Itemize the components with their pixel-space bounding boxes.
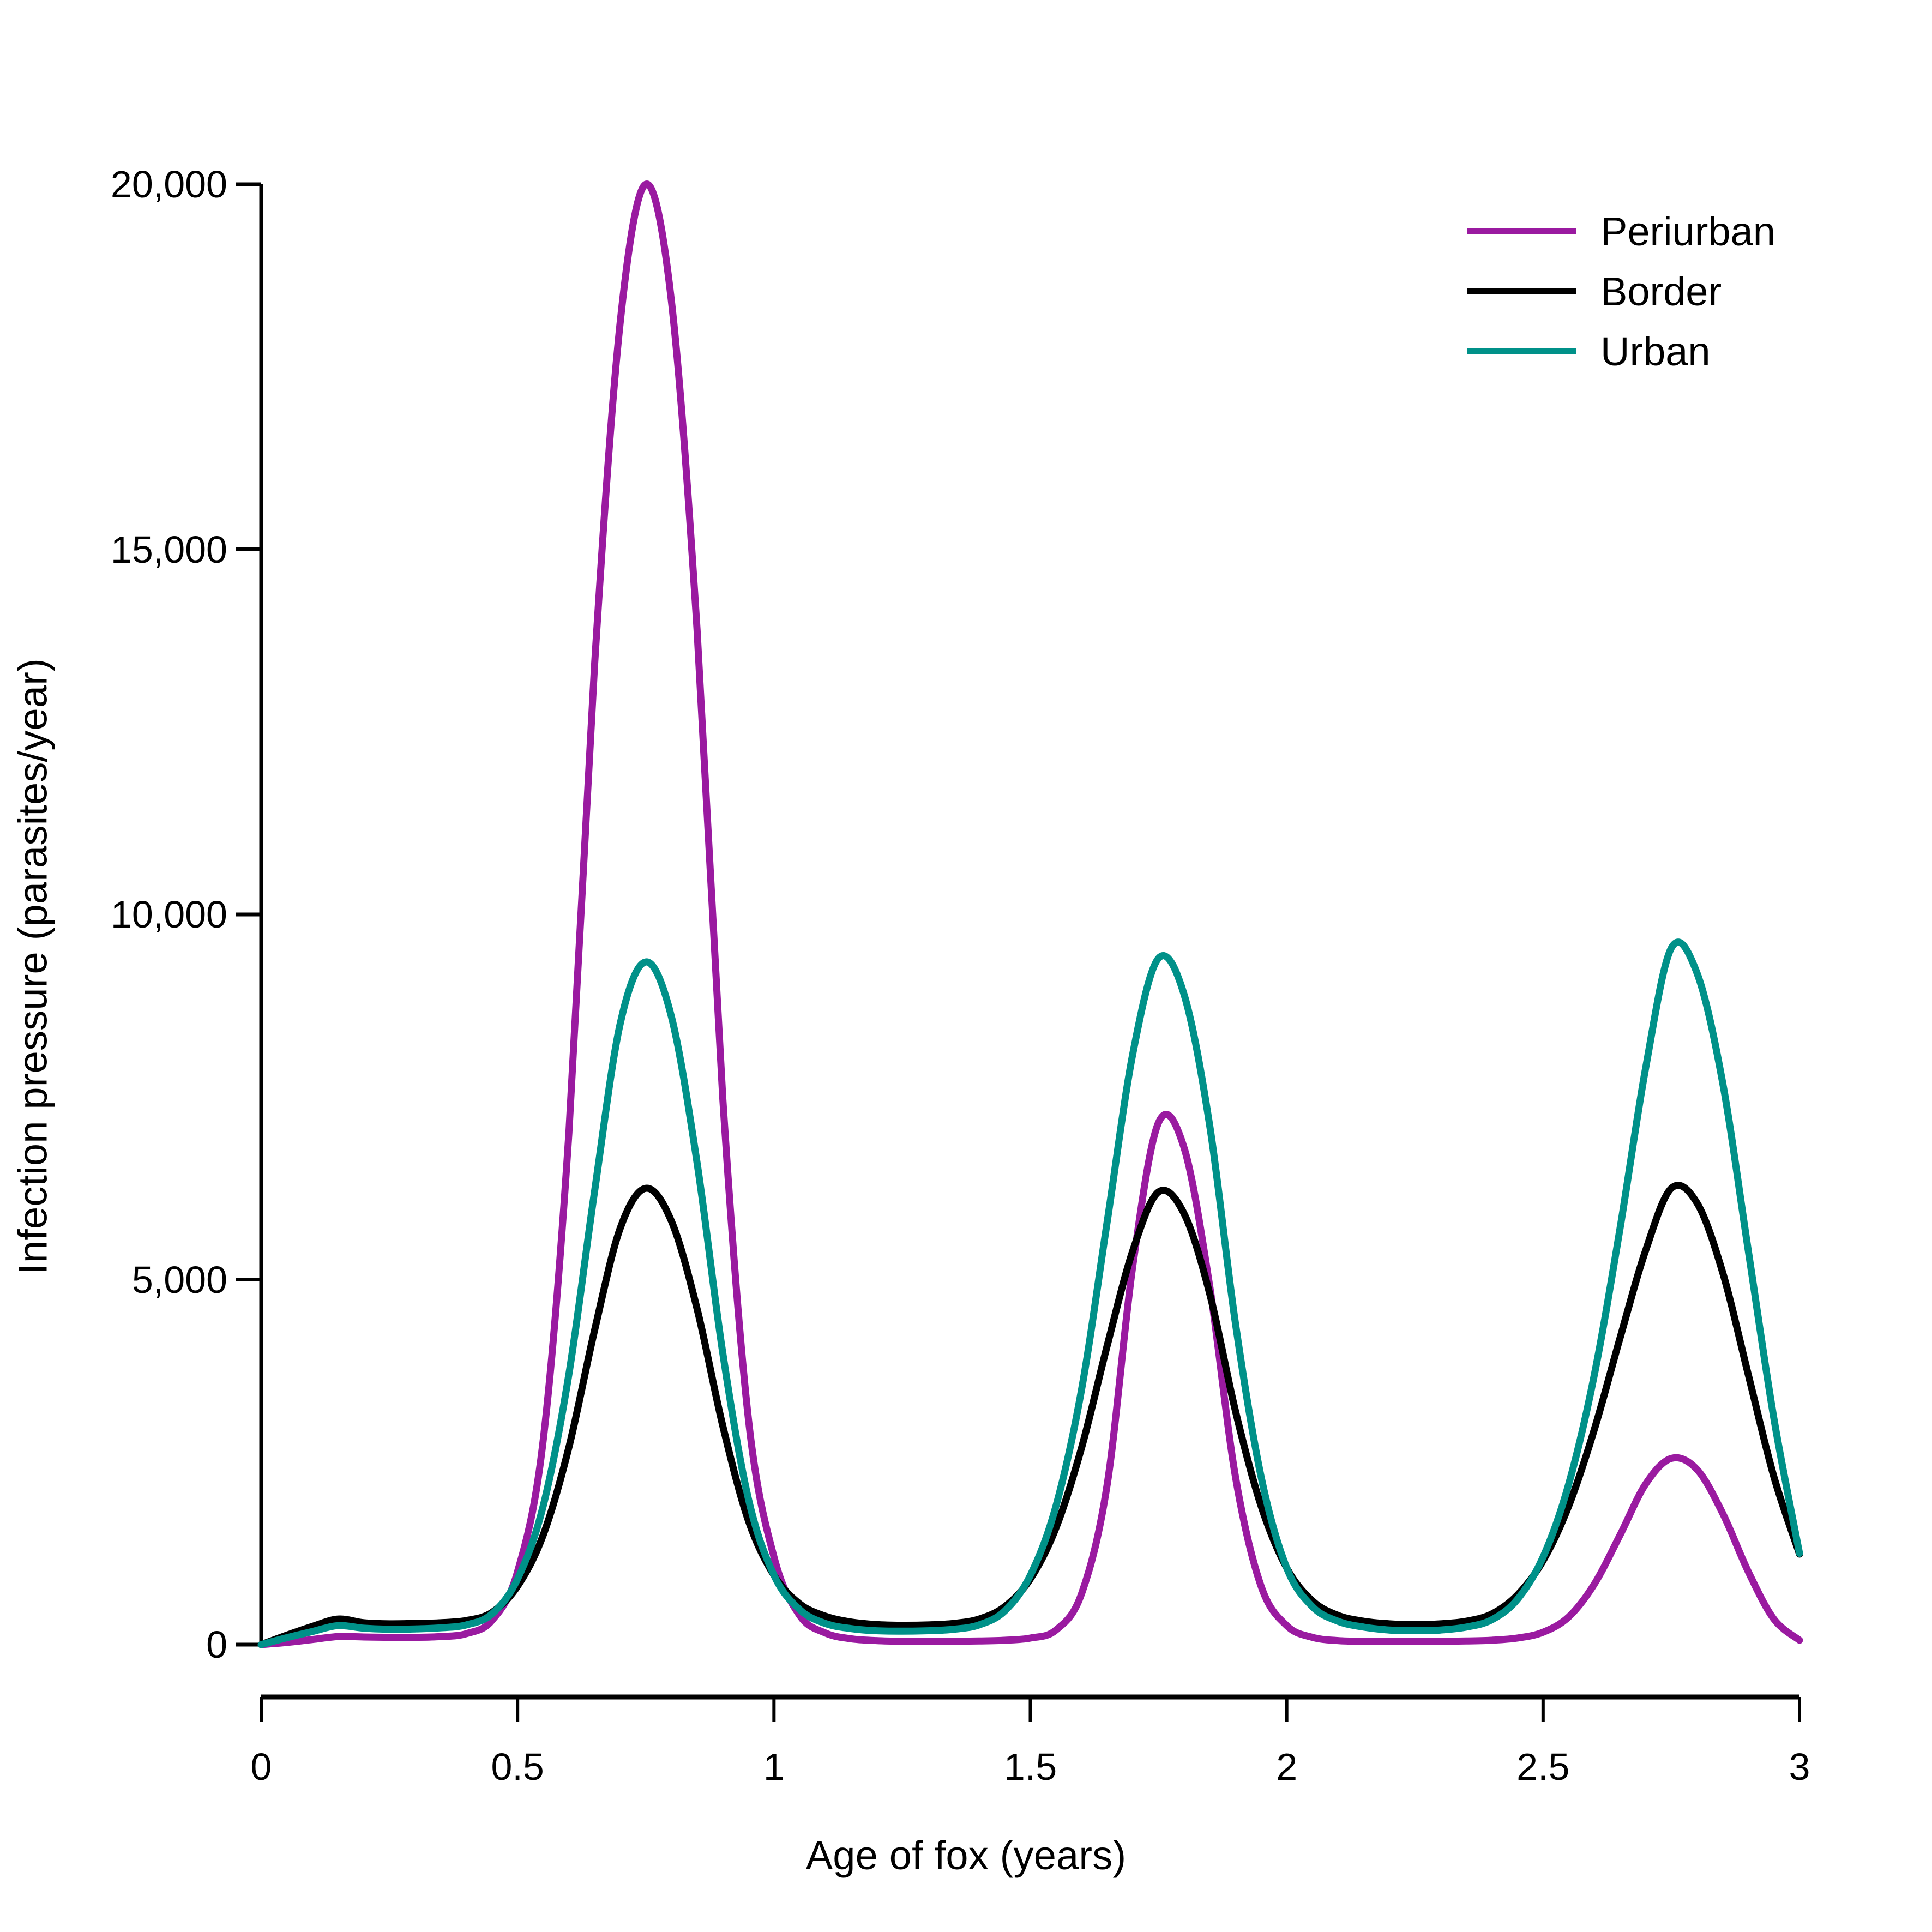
legend-color-swatch <box>1467 228 1576 234</box>
x-axis-title: Age of fox (years) <box>0 1832 1932 1879</box>
series-line-urban <box>261 942 1799 1645</box>
y-axis-title: Infection pressure (parasites/year) <box>10 658 56 1274</box>
series-lines <box>261 184 1799 1645</box>
x-tick-label: 0.5 <box>491 1745 544 1789</box>
series-line-periurban <box>261 184 1799 1645</box>
x-tick-label: 1.5 <box>1004 1745 1057 1789</box>
x-tick-label: 3 <box>1789 1745 1810 1789</box>
legend-label: Periurban <box>1600 202 1775 262</box>
y-tick-label: 10,000 <box>111 893 227 936</box>
legend-label: Urban <box>1600 322 1711 382</box>
x-tick-label: 1 <box>763 1745 785 1789</box>
x-tick-label: 0 <box>251 1745 272 1789</box>
y-tick-label: 15,000 <box>111 528 227 571</box>
x-tick-label: 2 <box>1276 1745 1297 1789</box>
legend-color-swatch <box>1467 288 1576 294</box>
y-tick-label: 20,000 <box>111 162 227 206</box>
y-axis-title-container: Infection pressure (parasites/year) <box>0 0 65 1932</box>
legend-color-swatch <box>1467 348 1576 354</box>
y-tick-label: 5,000 <box>132 1258 227 1302</box>
y-tick-label: 0 <box>206 1623 227 1666</box>
x-tick-label: 2.5 <box>1516 1745 1569 1789</box>
legend-label: Border <box>1600 262 1722 322</box>
chart-figure: Infection pressure (parasites/year) Age … <box>0 0 1932 1932</box>
